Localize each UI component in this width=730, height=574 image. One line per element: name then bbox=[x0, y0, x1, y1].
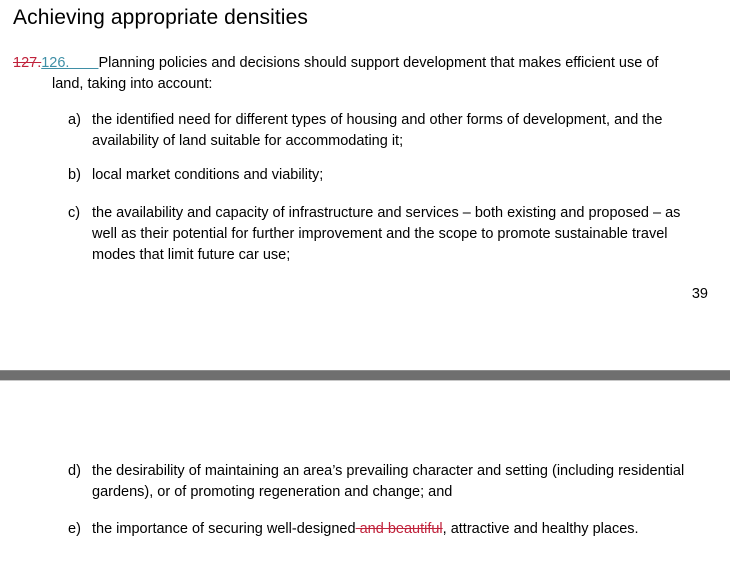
list-item-d-line-1: the desirability of maintaining an area’… bbox=[92, 463, 548, 479]
deleted-paragraph-number: 127. bbox=[13, 55, 41, 71]
list-item-a-line-1: the identified need for different types … bbox=[92, 112, 519, 128]
list-item-d-text: the desirability of maintaining an area’… bbox=[92, 461, 693, 503]
list-item-e-text-before: the importance of securing well-designed bbox=[92, 521, 356, 537]
list-item-c-text: the availability and capacity of infrast… bbox=[92, 203, 693, 266]
list-item-e-line-2: places. bbox=[593, 521, 639, 537]
inserted-tab-space bbox=[69, 55, 98, 71]
list-item-e-text-after: , attractive and healthy bbox=[443, 521, 589, 537]
document-page-next: d) the desirability of maintaining an ar… bbox=[0, 381, 730, 574]
list-marker-d: d) bbox=[68, 461, 92, 482]
list-marker-a: a) bbox=[68, 110, 92, 131]
inserted-paragraph-number: 126. bbox=[41, 55, 69, 71]
page-title: Achieving appropriate densities bbox=[13, 5, 308, 31]
list-item-b-line-1: local market conditions and viability; bbox=[92, 167, 323, 183]
paragraph-126: 127.126. Planning policies and decisions… bbox=[13, 53, 673, 95]
list-item: e) the importance of securing well-desig… bbox=[68, 519, 693, 540]
list-marker-c: c) bbox=[68, 203, 92, 224]
list-item: b) local market conditions and viability… bbox=[68, 165, 688, 186]
page-break-separator bbox=[0, 370, 730, 381]
list-item-b-text: local market conditions and viability; bbox=[92, 165, 688, 186]
list-item: d) the desirability of maintaining an ar… bbox=[68, 461, 693, 503]
list-marker-b: b) bbox=[68, 165, 92, 186]
document-page-39: Achieving appropriate densities 127.126.… bbox=[0, 0, 730, 370]
list-item: a) the identified need for different typ… bbox=[68, 110, 688, 152]
paragraph-line-1: Planning policies and decisions should s… bbox=[98, 55, 561, 71]
deleted-phrase-and-beautiful: and beautiful bbox=[356, 521, 443, 537]
list-item-a-text: the identified need for different types … bbox=[92, 110, 688, 152]
list-marker-e: e) bbox=[68, 519, 92, 540]
list-item-c-line-1: the availability and capacity of infrast… bbox=[92, 205, 584, 221]
page-number: 39 bbox=[692, 285, 708, 303]
list-item-e-text: the importance of securing well-designed… bbox=[92, 519, 693, 540]
list-item: c) the availability and capacity of infr… bbox=[68, 203, 693, 266]
